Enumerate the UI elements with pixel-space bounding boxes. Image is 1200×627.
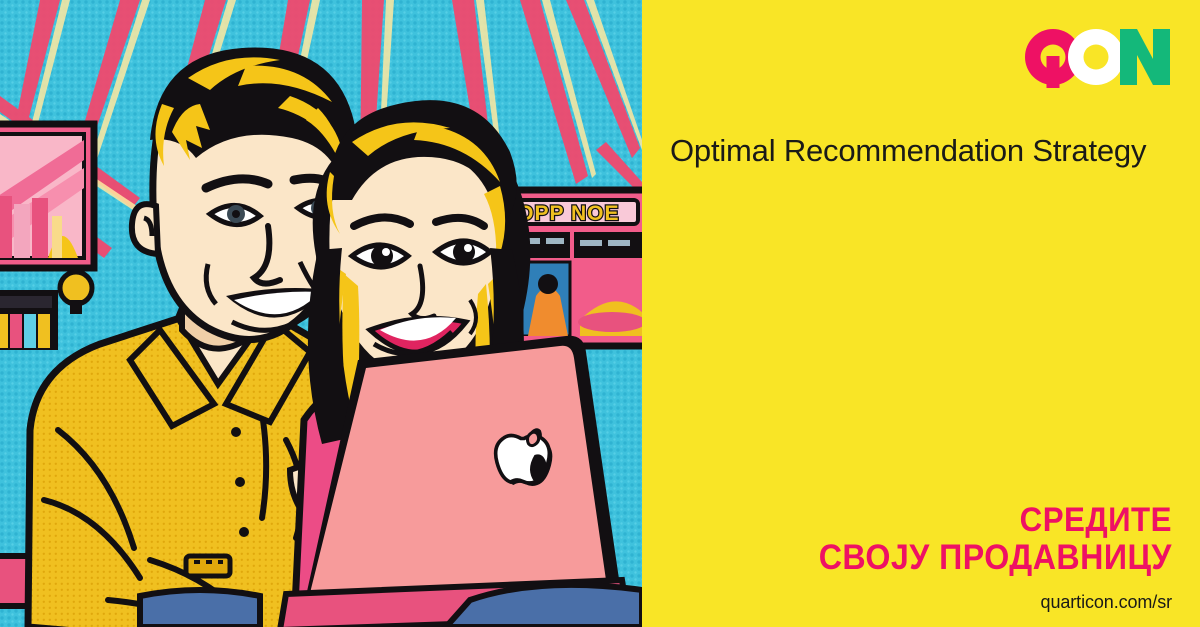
logo-letter-o: [1068, 29, 1124, 85]
logo-letter-n: [1120, 29, 1170, 85]
cta-line-1: СРЕДИТЕ: [819, 504, 1172, 536]
hero-illustration: SHOPP NOE: [0, 0, 642, 627]
website-url[interactable]: quarticon.com/sr: [1041, 592, 1172, 613]
cta-line-2: СВОЈУ ПРОДАВНИЦУ: [819, 541, 1172, 574]
cta-heading: СРЕДИТЕ СВОЈУ ПРОДАВНИЦУ: [788, 504, 1172, 574]
wall-picture-frame: [0, 124, 94, 268]
promo-banner: SHOPP NOE: [0, 0, 1200, 627]
bookshelf-silhouette: [0, 290, 58, 350]
qon-logo[interactable]: [1022, 26, 1170, 88]
content-panel: Optimal Recommendation Strategy СРЕДИТЕ …: [642, 0, 1200, 627]
page-title: Optimal Recommendation Strategy: [670, 130, 1170, 172]
